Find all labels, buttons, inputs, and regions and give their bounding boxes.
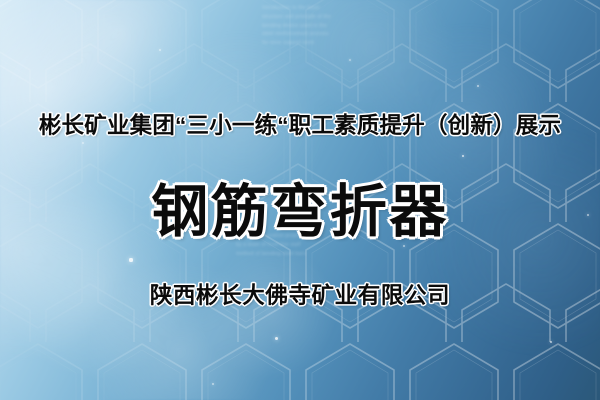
presentation-slide: Introduction to the basic structure and … [0,0,600,400]
slide-text-block: 彬长矿业集团“三小一练“职工素质提升（创新）展示 钢筋弯折器 陕西彬长大佛寺矿业… [0,0,600,400]
slide-eyebrow-title: 彬长矿业集团“三小一练“职工素质提升（创新）展示 [0,108,600,140]
slide-main-title: 钢筋弯折器 [0,166,600,248]
slide-organization-name: 陕西彬长大佛寺矿业有限公司 [0,278,600,310]
